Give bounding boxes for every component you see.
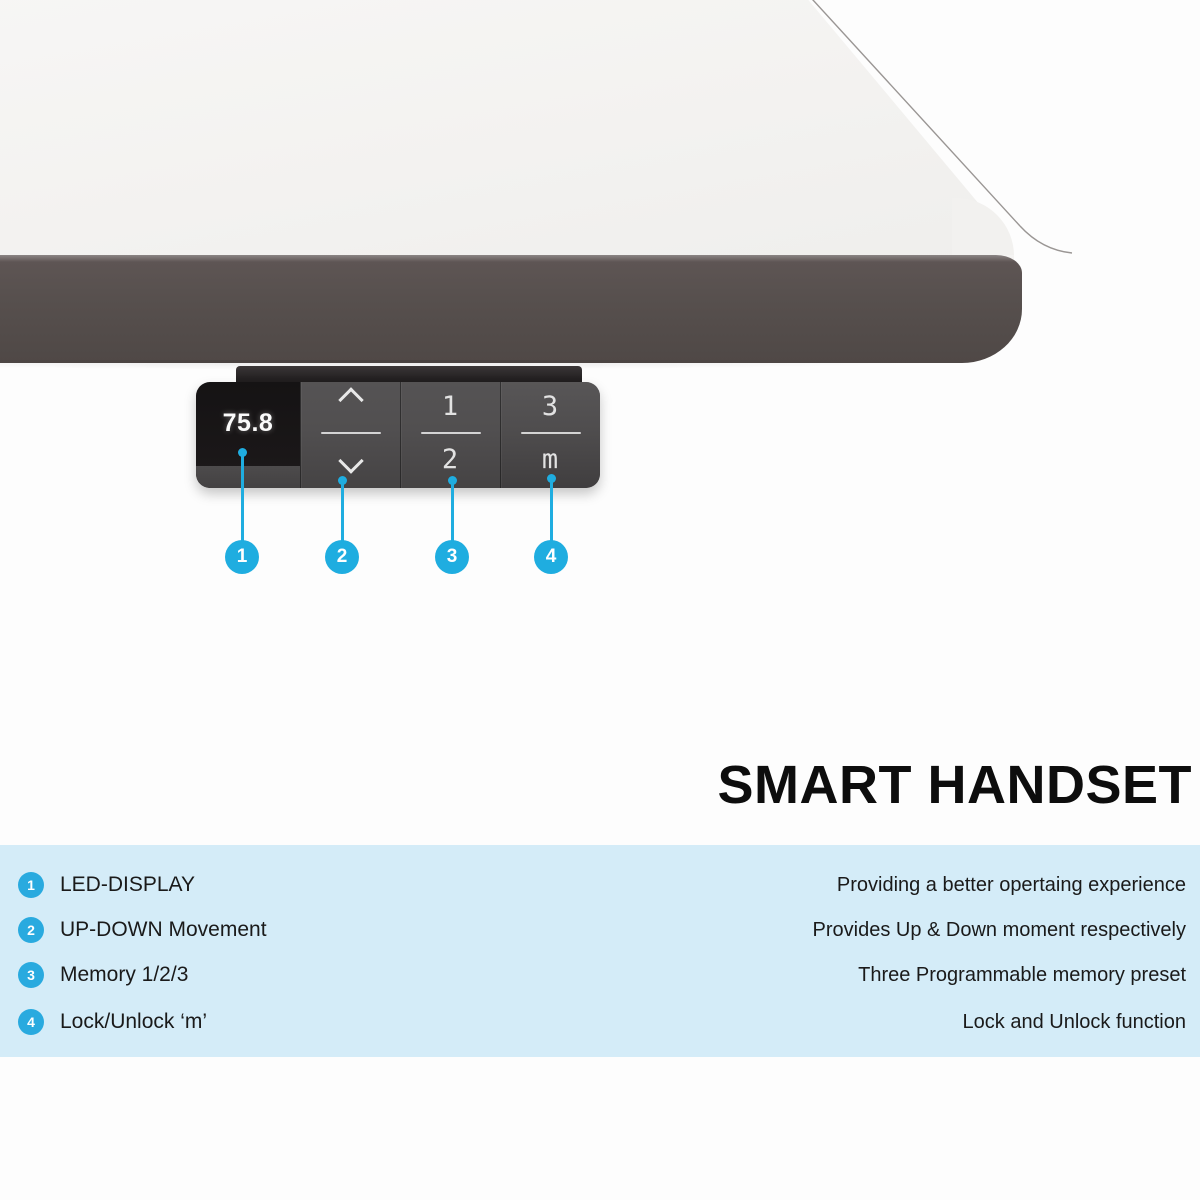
legend-row-3: 3 Memory 1/2/3 Three Programmable memory… (0, 962, 1200, 992)
up-down-key[interactable] (300, 382, 400, 488)
led-display-panel: 75.8 (196, 382, 300, 488)
led-display-base (196, 466, 300, 488)
legend-row-4: 4 Lock/Unlock ‘m’ Lock and Unlock functi… (0, 1009, 1200, 1039)
page-title: SMART HANDSET (718, 754, 1193, 816)
memory-3-label: 3 (501, 391, 600, 422)
desk-illustration (0, 0, 1200, 400)
key-divider-line (321, 432, 381, 434)
legend-description-1: Providing a better opertaing experience (837, 874, 1186, 897)
memory-3-m-key[interactable]: 3 m (500, 382, 600, 488)
desk-top-surface (0, 0, 1050, 270)
legend-label-4: Lock/Unlock ‘m’ (60, 1010, 207, 1034)
callout-leader-line (241, 452, 244, 548)
memory-1-2-key[interactable]: 1 2 (400, 382, 500, 488)
lock-m-label: m (501, 444, 600, 475)
key-divider-line (421, 432, 481, 434)
callout-badge-2: 2 (325, 540, 359, 574)
desk-edge-band (0, 255, 1022, 363)
legend-row-1: 1 LED-DISPLAY Providing a better opertai… (0, 872, 1200, 902)
led-display-value: 75.8 (196, 409, 300, 438)
legend-badge-2: 2 (18, 917, 44, 943)
chevron-up-icon[interactable] (301, 391, 400, 414)
legend-badge-3: 3 (18, 962, 44, 988)
memory-1-label: 1 (401, 391, 500, 422)
legend-badge-1: 1 (18, 872, 44, 898)
callout-badge-3: 3 (435, 540, 469, 574)
legend-description-3: Three Programmable memory preset (858, 964, 1186, 987)
product-infographic: 75.8 1 2 3 m 1 2 3 (0, 0, 1200, 1200)
chevron-down-icon[interactable] (301, 452, 400, 475)
desk-corner-radius (952, 198, 1014, 260)
callout-badge-1: 1 (225, 540, 259, 574)
memory-2-label: 2 (401, 444, 500, 475)
legend-row-2: 2 UP-DOWN Movement Provides Up & Down mo… (0, 917, 1200, 947)
legend-panel: 1 LED-DISPLAY Providing a better opertai… (0, 845, 1200, 1057)
legend-badge-4: 4 (18, 1009, 44, 1035)
legend-label-1: LED-DISPLAY (60, 873, 195, 897)
callout-leader-line (451, 480, 454, 548)
handset-controller: 75.8 1 2 3 m (196, 382, 600, 488)
callout-badge-4: 4 (534, 540, 568, 574)
legend-label-3: Memory 1/2/3 (60, 963, 188, 987)
callout-leader-line (550, 478, 553, 548)
key-divider-line (521, 432, 581, 434)
legend-description-4: Lock and Unlock function (963, 1011, 1186, 1034)
legend-description-2: Provides Up & Down moment respectively (813, 919, 1186, 942)
desk-edge-highlight (0, 255, 1022, 262)
legend-label-2: UP-DOWN Movement (60, 918, 267, 942)
callout-leader-line (341, 480, 344, 548)
